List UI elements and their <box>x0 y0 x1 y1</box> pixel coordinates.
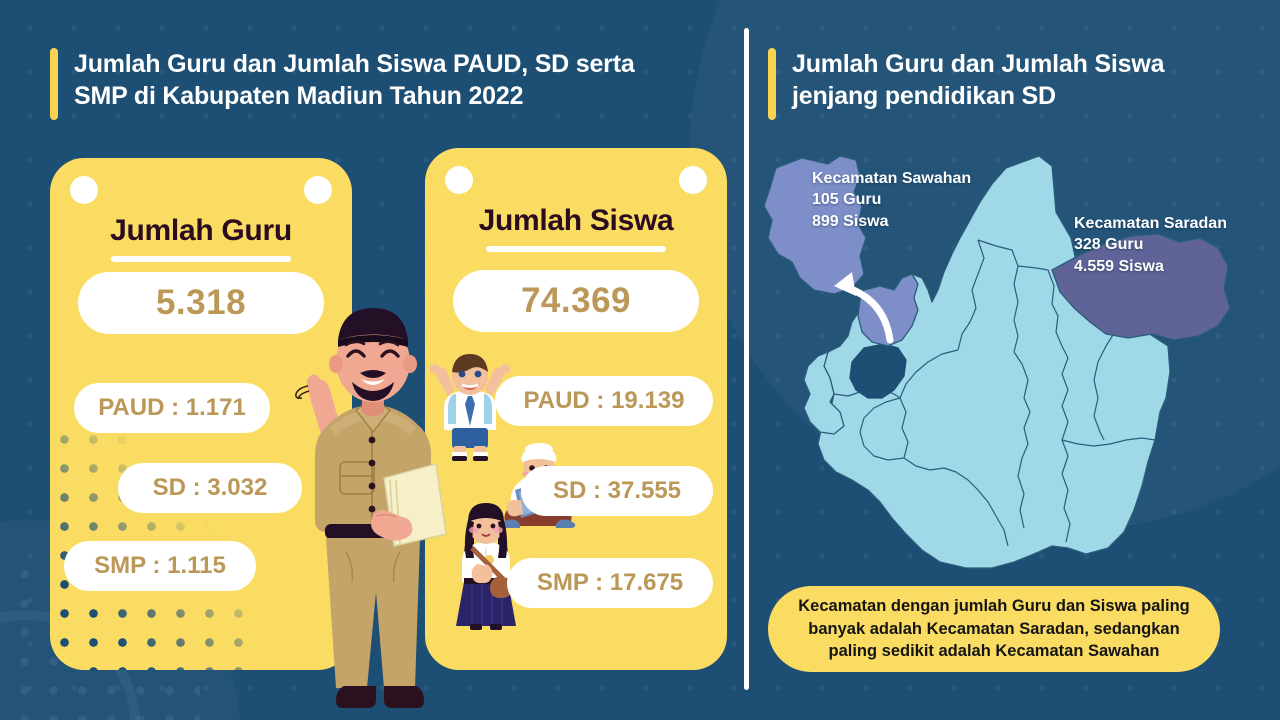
card-guru-level-paud: PAUD : 1.171 <box>74 383 270 433</box>
left-panel-title-text: Jumlah Guru dan Jumlah Siswa PAUD, SD se… <box>74 48 635 112</box>
card-siswa-total-value: 74.369 <box>521 281 631 321</box>
card-siswa-heading: Jumlah Siswa <box>425 204 727 238</box>
title-accent-bar <box>768 48 776 120</box>
map-label-sawahan: Kecamatan Sawahan 105 Guru 899 Siswa <box>812 168 971 232</box>
card-siswa-total-pill: 74.369 <box>453 270 699 332</box>
summary-note-box: Kecamatan dengan jumlah Guru dan Siswa p… <box>768 586 1220 672</box>
punch-hole-right-icon <box>679 166 707 194</box>
card-guru-heading: Jumlah Guru <box>50 214 352 248</box>
card-guru-level-paud-label: PAUD : 1.171 <box>98 394 246 422</box>
madiun-district-map: Kecamatan Sawahan 105 Guru 899 Siswa Kec… <box>756 150 1266 575</box>
left-panel-title: Jumlah Guru dan Jumlah Siswa PAUD, SD se… <box>50 48 635 120</box>
card-siswa-level-smp-label: SMP : 17.675 <box>537 569 683 597</box>
vertical-divider <box>744 28 749 690</box>
title-accent-bar <box>50 48 58 120</box>
card-siswa-header: Jumlah Siswa <box>425 204 727 252</box>
heading-underline <box>111 256 291 262</box>
card-guru-level-smp: SMP : 1.115 <box>64 541 256 591</box>
punch-hole-right-icon <box>304 176 332 204</box>
right-panel-title-text: Jumlah Guru dan Jumlah Siswa jenjang pen… <box>792 48 1164 112</box>
right-panel-title: Jumlah Guru dan Jumlah Siswa jenjang pen… <box>768 48 1164 120</box>
summary-note-text: Kecamatan dengan jumlah Guru dan Siswa p… <box>798 595 1190 663</box>
punch-hole-left-icon <box>445 166 473 194</box>
card-siswa-level-paud: PAUD : 19.139 <box>495 376 713 426</box>
card-guru-header: Jumlah Guru <box>50 214 352 262</box>
card-guru-level-sd-label: SD : 3.032 <box>153 474 268 502</box>
card-siswa-level-paud-label: PAUD : 19.139 <box>524 387 685 415</box>
card-siswa-level-sd: SD : 37.555 <box>521 466 713 516</box>
heading-underline <box>486 246 666 252</box>
card-guru-total-value: 5.318 <box>156 283 246 323</box>
card-guru-level-sd: SD : 3.032 <box>118 463 302 513</box>
card-siswa-level-smp: SMP : 17.675 <box>507 558 713 608</box>
card-guru-level-smp-label: SMP : 1.115 <box>94 552 226 580</box>
infographic-canvas: Jumlah Guru dan Jumlah Siswa PAUD, SD se… <box>0 0 1280 720</box>
punch-hole-left-icon <box>70 176 98 204</box>
map-label-saradan: Kecamatan Saradan 328 Guru 4.559 Siswa <box>1074 213 1227 277</box>
card-siswa-level-sd-label: SD : 37.555 <box>553 477 681 505</box>
